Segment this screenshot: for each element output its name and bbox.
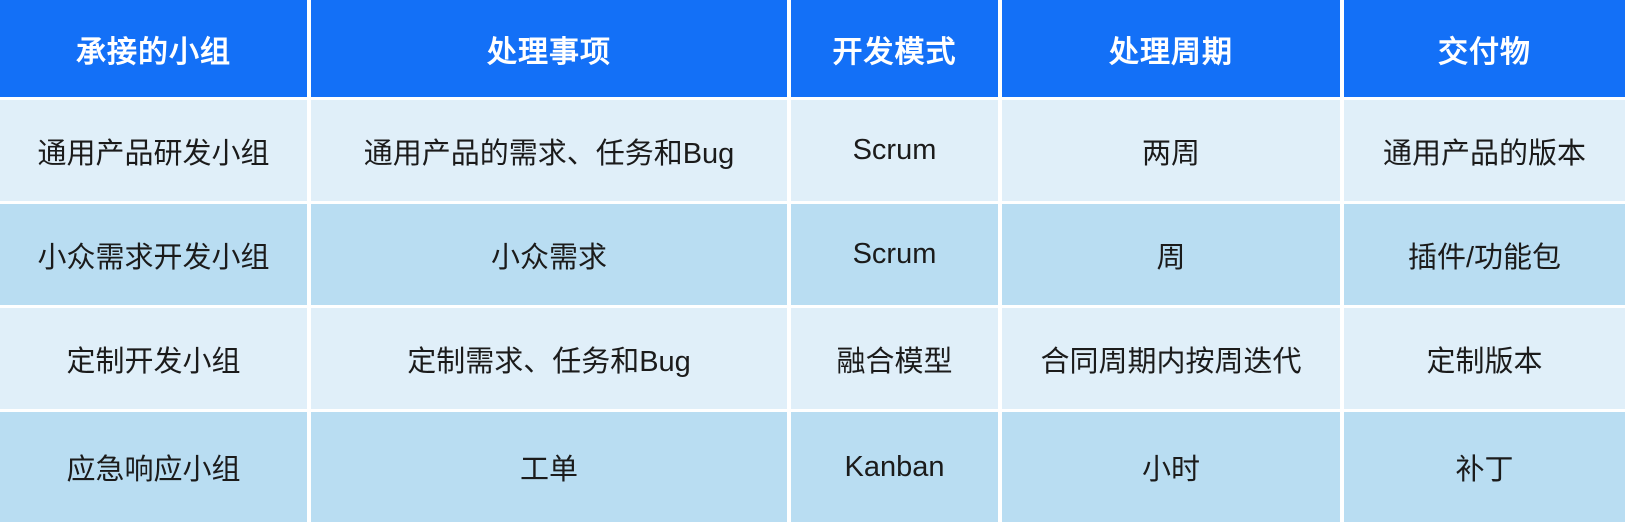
table-row: 通用产品研发小组 通用产品的需求、任务和Bug Scrum 两周 通用产品的版本 — [0, 97, 1625, 201]
cell-group: 小众需求开发小组 — [0, 201, 311, 305]
table-header: 承接的小组 处理事项 开发模式 处理周期 交付物 — [0, 0, 1625, 97]
table-body: 通用产品研发小组 通用产品的需求、任务和Bug Scrum 两周 通用产品的版本… — [0, 97, 1625, 522]
cell-dev-mode: 融合模型 — [791, 305, 1002, 409]
column-header-dev-mode: 开发模式 — [791, 0, 1002, 97]
cell-items: 小众需求 — [311, 201, 791, 305]
cell-deliverable: 插件/功能包 — [1344, 201, 1625, 305]
team-responsibility-table-container: 承接的小组 处理事项 开发模式 处理周期 交付物 通用产品研发小组 通用产品的需… — [0, 0, 1625, 529]
column-header-cycle: 处理周期 — [1002, 0, 1344, 97]
cell-group: 定制开发小组 — [0, 305, 311, 409]
cell-deliverable: 定制版本 — [1344, 305, 1625, 409]
column-header-deliverable: 交付物 — [1344, 0, 1625, 97]
cell-deliverable: 补丁 — [1344, 409, 1625, 522]
column-header-group: 承接的小组 — [0, 0, 311, 97]
table-row: 小众需求开发小组 小众需求 Scrum 周 插件/功能包 — [0, 201, 1625, 305]
cell-cycle: 小时 — [1002, 409, 1344, 522]
header-row: 承接的小组 处理事项 开发模式 处理周期 交付物 — [0, 0, 1625, 97]
cell-dev-mode: Scrum — [791, 201, 1002, 305]
column-header-items: 处理事项 — [311, 0, 791, 97]
cell-group: 应急响应小组 — [0, 409, 311, 522]
cell-cycle: 两周 — [1002, 97, 1344, 201]
cell-cycle: 周 — [1002, 201, 1344, 305]
cell-dev-mode: Scrum — [791, 97, 1002, 201]
cell-dev-mode: Kanban — [791, 409, 1002, 522]
team-responsibility-table: 承接的小组 处理事项 开发模式 处理周期 交付物 通用产品研发小组 通用产品的需… — [0, 0, 1625, 522]
cell-items: 定制需求、任务和Bug — [311, 305, 791, 409]
cell-cycle: 合同周期内按周迭代 — [1002, 305, 1344, 409]
cell-items: 通用产品的需求、任务和Bug — [311, 97, 791, 201]
table-row: 应急响应小组 工单 Kanban 小时 补丁 — [0, 409, 1625, 522]
cell-group: 通用产品研发小组 — [0, 97, 311, 201]
cell-deliverable: 通用产品的版本 — [1344, 97, 1625, 201]
cell-items: 工单 — [311, 409, 791, 522]
table-row: 定制开发小组 定制需求、任务和Bug 融合模型 合同周期内按周迭代 定制版本 — [0, 305, 1625, 409]
